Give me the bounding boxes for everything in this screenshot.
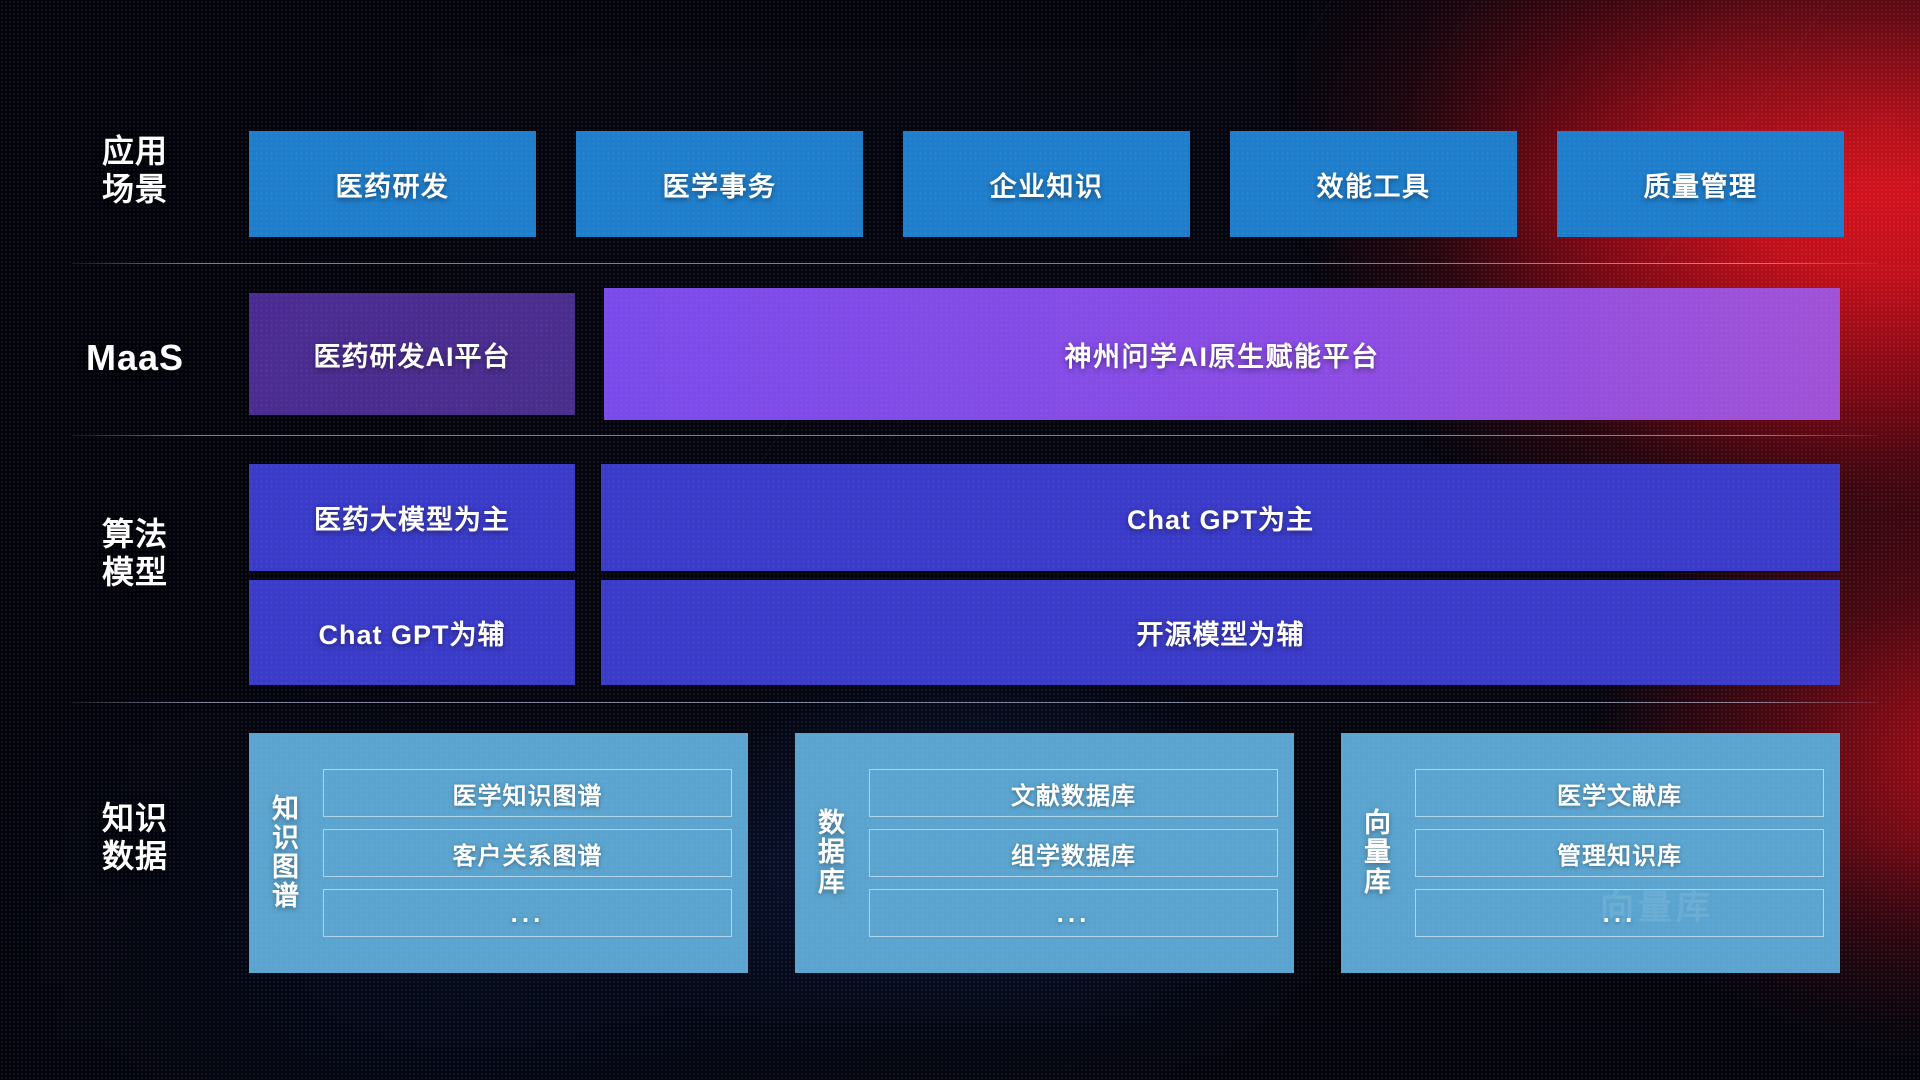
app-card-3-label: 效能工具 (1317, 165, 1431, 204)
app-card-2-label: 企业知识 (990, 165, 1104, 204)
knowledge-item-1-0-label: 文献数据库 (1011, 776, 1136, 811)
app-card-0-label: 医药研发 (336, 165, 450, 204)
algo-card-left-0-label: 医药大模型为主 (314, 498, 510, 537)
knowledge-item-1-2[interactable]: ... (869, 889, 1278, 937)
algo-card-right-0[interactable]: Chat GPT为主 (601, 464, 1840, 571)
knowledge-group-0-items: 医学知识图谱 客户关系图谱 ... (323, 769, 732, 937)
maas-enablement-label: 神州问学AI原生赋能平台 (1065, 335, 1380, 374)
knowledge-group-vector-db[interactable]: 向量库 医学文献库 管理知识库 ... (1341, 733, 1840, 973)
algo-card-right-1[interactable]: 开源模型为辅 (601, 580, 1840, 685)
knowledge-group-2-title-text: 向量库 (1364, 809, 1392, 896)
knowledge-item-0-0-label: 医学知识图谱 (453, 776, 603, 811)
row-divider-application (72, 263, 1878, 264)
knowledge-item-0-2[interactable]: ... (323, 889, 732, 937)
app-card-3[interactable]: 效能工具 (1230, 131, 1517, 237)
row-label-application: 应用 场景 (72, 133, 198, 209)
app-card-1-label: 医学事务 (663, 165, 777, 204)
knowledge-group-2-title: 向量库 (1341, 809, 1415, 896)
row-label-maas: MaaS (72, 337, 198, 379)
knowledge-item-1-1-label: 组学数据库 (1011, 836, 1136, 871)
maas-enablement-card[interactable]: 神州问学AI原生赋能平台 (604, 288, 1840, 420)
knowledge-item-0-1[interactable]: 客户关系图谱 (323, 829, 732, 877)
knowledge-group-0-title: 知识图谱 (249, 795, 323, 912)
knowledge-item-0-1-label: 客户关系图谱 (453, 836, 603, 871)
app-card-4-label: 质量管理 (1644, 165, 1758, 204)
row-divider-algorithm (72, 702, 1878, 703)
app-card-4[interactable]: 质量管理 (1557, 131, 1844, 237)
knowledge-item-2-0[interactable]: 医学文献库 (1415, 769, 1824, 817)
algo-card-right-0-label: Chat GPT为主 (1127, 498, 1314, 537)
knowledge-item-2-0-label: 医学文献库 (1557, 776, 1682, 811)
app-card-2[interactable]: 企业知识 (903, 131, 1190, 237)
row-label-algorithm: 算法 模型 (72, 516, 198, 592)
knowledge-item-2-2[interactable]: ... (1415, 889, 1824, 937)
architecture-diagram: 应用 场景 医药研发 医学事务 企业知识 效能工具 质量管理 MaaS 医药研发… (0, 0, 1920, 1080)
knowledge-group-0-title-text: 知识图谱 (272, 795, 300, 912)
knowledge-item-1-2-label: ... (1057, 898, 1091, 929)
maas-platform-card[interactable]: 医药研发AI平台 (249, 293, 575, 415)
algo-card-left-1[interactable]: Chat GPT为辅 (249, 580, 575, 685)
knowledge-item-1-0[interactable]: 文献数据库 (869, 769, 1278, 817)
algo-card-left-0[interactable]: 医药大模型为主 (249, 464, 575, 571)
knowledge-item-0-2-label: ... (511, 898, 545, 929)
app-card-1[interactable]: 医学事务 (576, 131, 863, 237)
algo-card-left-1-label: Chat GPT为辅 (318, 613, 505, 652)
knowledge-group-knowledge-graph[interactable]: 知识图谱 医学知识图谱 客户关系图谱 ... (249, 733, 748, 973)
knowledge-group-2-items: 医学文献库 管理知识库 ... (1415, 769, 1824, 937)
row-divider-maas (72, 435, 1878, 436)
knowledge-item-2-1-label: 管理知识库 (1557, 836, 1682, 871)
knowledge-item-2-1[interactable]: 管理知识库 (1415, 829, 1824, 877)
algo-card-right-1-label: 开源模型为辅 (1137, 613, 1305, 652)
knowledge-item-1-1[interactable]: 组学数据库 (869, 829, 1278, 877)
knowledge-group-1-title: 数据库 (795, 809, 869, 896)
knowledge-item-0-0[interactable]: 医学知识图谱 (323, 769, 732, 817)
maas-platform-label: 医药研发AI平台 (314, 335, 511, 374)
knowledge-group-database[interactable]: 数据库 文献数据库 组学数据库 ... (795, 733, 1294, 973)
knowledge-group-1-title-text: 数据库 (818, 809, 846, 896)
knowledge-group-1-items: 文献数据库 组学数据库 ... (869, 769, 1278, 937)
app-card-0[interactable]: 医药研发 (249, 131, 536, 237)
knowledge-item-2-2-label: ... (1603, 898, 1637, 929)
row-label-knowledge: 知识 数据 (72, 800, 198, 876)
